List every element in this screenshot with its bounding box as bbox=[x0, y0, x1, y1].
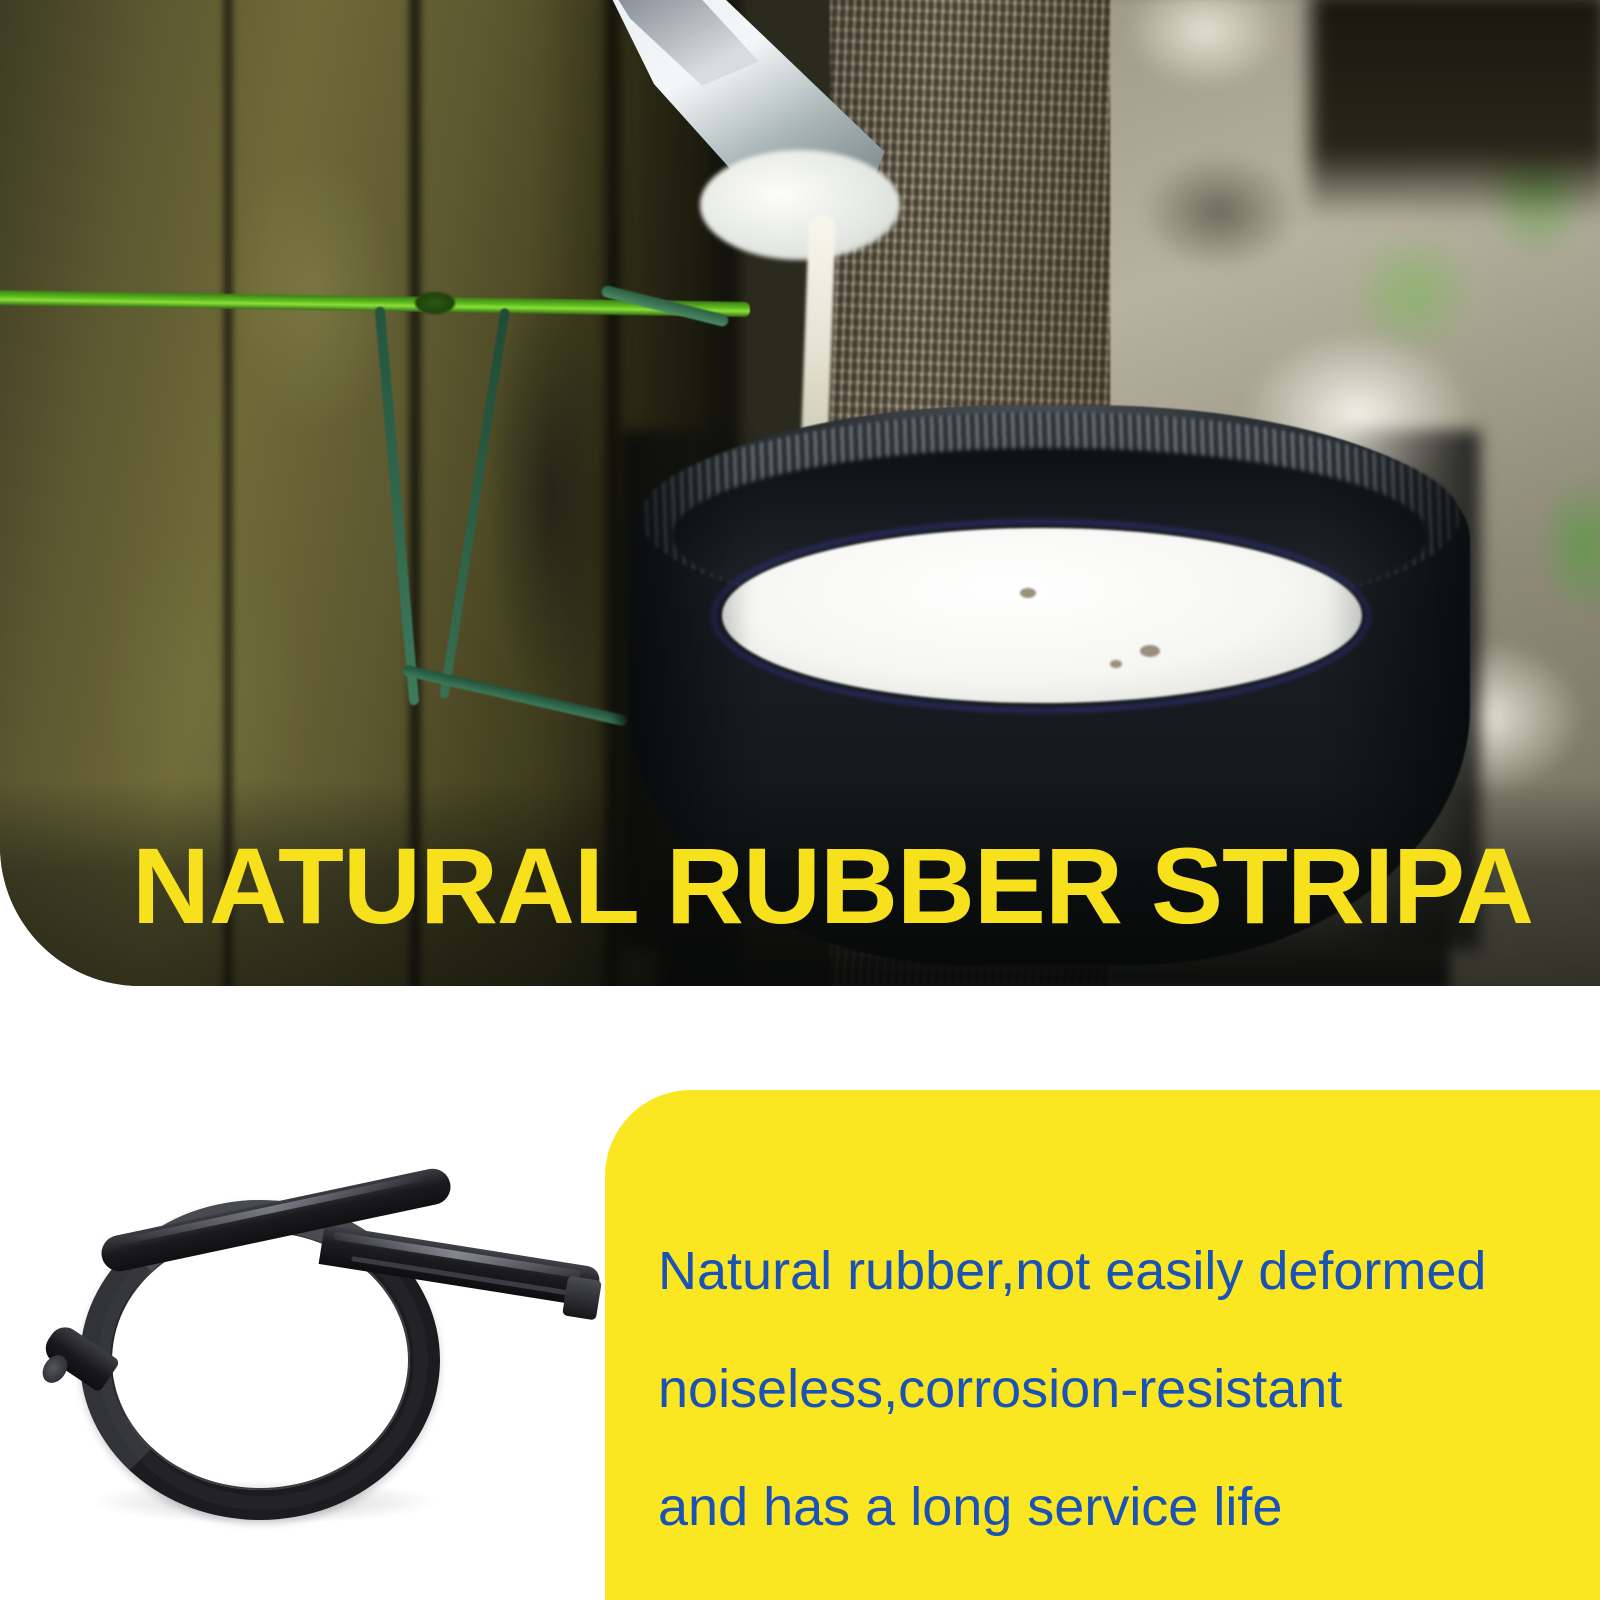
cord-knot bbox=[415, 292, 455, 314]
latex-debris bbox=[1110, 660, 1122, 668]
white-latex-liquid bbox=[722, 528, 1362, 703]
latex-pool-on-spout bbox=[700, 150, 900, 260]
product-image-rubber-strip bbox=[20, 1150, 600, 1550]
product-infographic: NATURAL RUBBER STRIPA Natural rubber,not… bbox=[0, 0, 1600, 1600]
page-title: NATURAL RUBBER STRIPA bbox=[132, 832, 1533, 940]
feature-line-2: noiseless,corrosion-resistant bbox=[658, 1330, 1588, 1448]
latex-debris bbox=[1140, 645, 1160, 657]
feature-line-3: and has a long service life bbox=[658, 1448, 1588, 1566]
feature-line-1: Natural rubber,not easily deformed bbox=[658, 1212, 1588, 1330]
rubber-strip-end-right bbox=[562, 1276, 602, 1321]
feature-text-block: Natural rubber,not easily deformed noise… bbox=[658, 1212, 1588, 1566]
hero-photo: NATURAL RUBBER STRIPA bbox=[0, 0, 1600, 986]
background-tree-silhouette bbox=[1310, 0, 1600, 220]
latex-debris bbox=[1020, 588, 1036, 598]
